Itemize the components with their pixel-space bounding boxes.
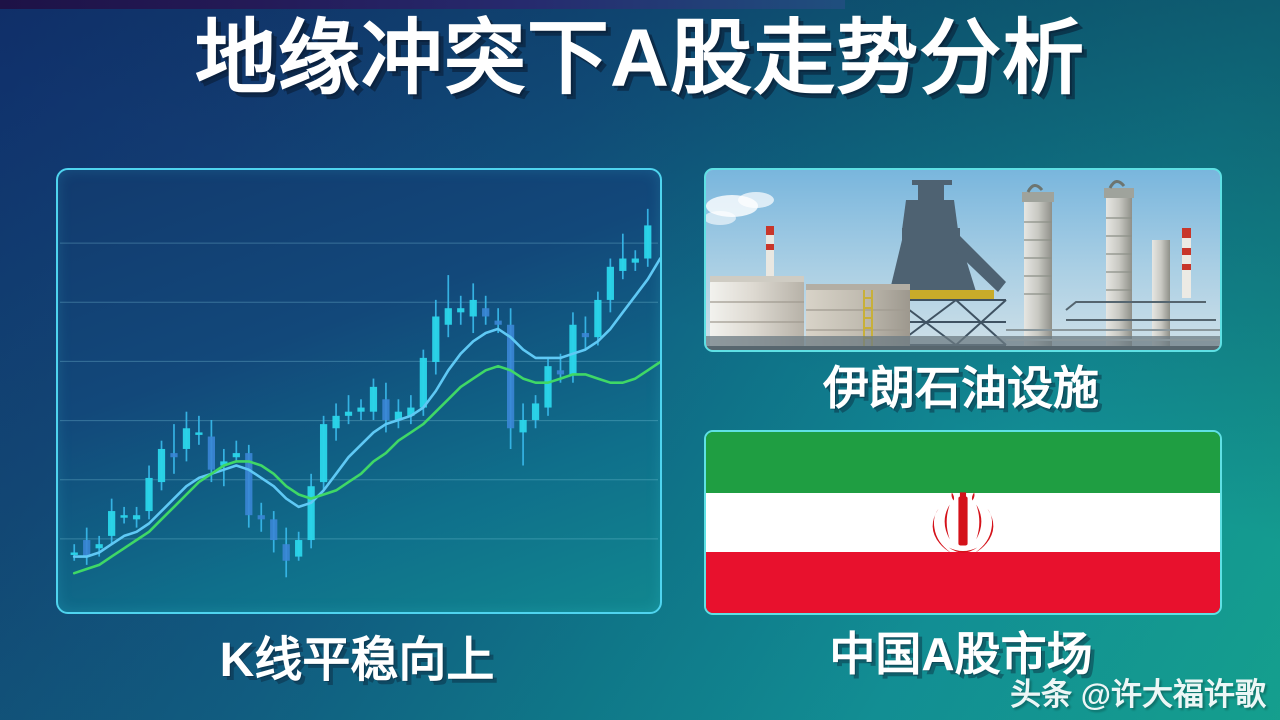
iran-flag xyxy=(706,432,1220,613)
poster-canvas: 地缘冲突下A股走势分析 xyxy=(0,0,1280,720)
watermark: 头条 @许大福许歌 xyxy=(1010,669,1266,714)
chart-caption: K线平稳向上 xyxy=(0,620,714,690)
oil-refinery-photo xyxy=(706,170,1220,350)
candlestick-chart-panel xyxy=(56,168,662,614)
iran-flag-panel xyxy=(704,430,1222,615)
chart-moving-averages xyxy=(74,259,660,574)
page-title: 地缘冲突下A股走势分析 xyxy=(0,16,1280,102)
photo-caption: 伊朗石油设施 xyxy=(704,352,1218,418)
oil-facility-photo-panel xyxy=(704,168,1222,352)
top-accent-strip xyxy=(0,0,845,9)
candlestick-chart xyxy=(58,170,660,612)
